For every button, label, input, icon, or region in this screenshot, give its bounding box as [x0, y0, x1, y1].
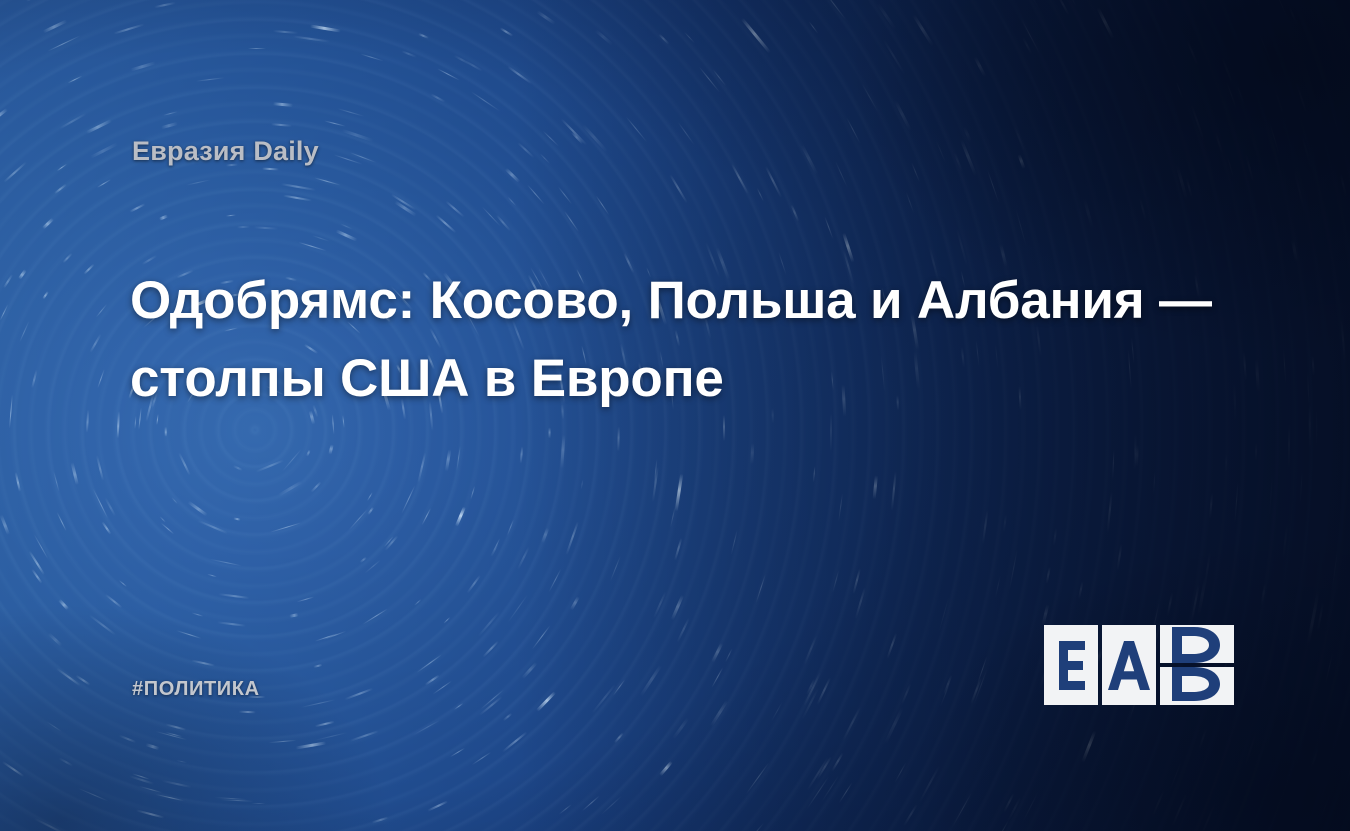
logo-tile-e — [1044, 625, 1098, 705]
site-name: Евразия Daily — [132, 136, 319, 167]
category-hashtag: #ПОЛИТИКА — [132, 678, 260, 701]
logo-letter-d-upper-icon — [1160, 625, 1234, 663]
page-title: Одобрямс: Косово, Польша и Албания — сто… — [130, 262, 1240, 418]
logo-tile-d — [1160, 625, 1234, 705]
logo-letter-e-icon — [1044, 625, 1098, 705]
logo-tile-d-lower — [1160, 667, 1234, 705]
article-share-card: Евразия Daily Одобрямс: Косово, Польша и… — [0, 0, 1350, 831]
logo-tile-a — [1102, 625, 1156, 705]
logo-tile-d-upper — [1160, 625, 1234, 663]
eadaily-logo — [1044, 625, 1234, 705]
logo-letter-d-lower-icon — [1160, 667, 1234, 705]
logo-letter-a-icon — [1102, 625, 1156, 705]
